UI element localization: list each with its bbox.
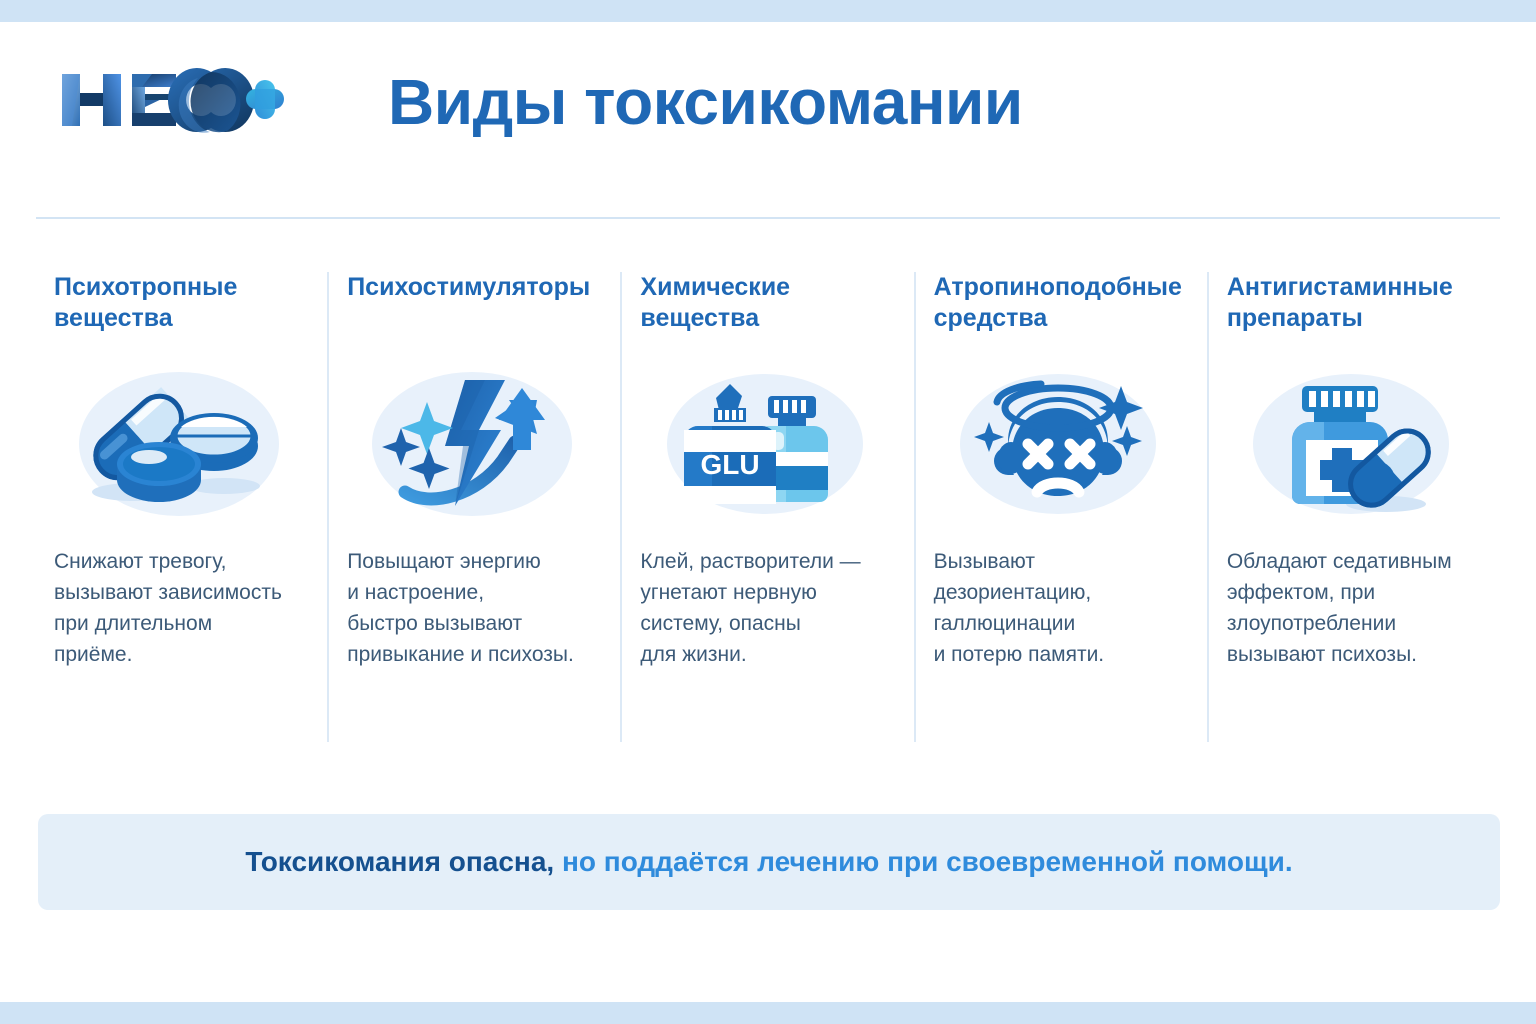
category-title: Химические вещества [640, 272, 889, 338]
category-title: Атропиноподобные средства [934, 272, 1183, 338]
category-description: Снижают тревогу, вызывают зависимость пр… [54, 546, 303, 670]
categories-row: Психотропные вещества [36, 272, 1500, 742]
category-column-stimulants: Психостимуляторы [327, 272, 620, 742]
category-description: Вызывают дезориентацию, галлюцинации и п… [934, 546, 1183, 670]
category-column-antihistamine: Антигистаминные препараты [1207, 272, 1500, 742]
category-column-psychotropic: Психотропные вещества [36, 272, 327, 742]
dizzy-face-icon [934, 364, 1183, 524]
category-description: Обладают седативным эффектом, при злоупо… [1227, 546, 1476, 670]
category-description: Повыщают энергию и настроение, быстро вы… [347, 546, 596, 670]
footer-message: Токсикомания опасна, но поддаётся лечени… [245, 846, 1292, 878]
footer-banner: Токсикомания опасна, но поддаётся лечени… [38, 814, 1500, 910]
neo-plus-logo [48, 64, 286, 136]
bottom-accent-band [0, 1002, 1536, 1024]
footer-message-light: но поддаётся лечению при своевременной п… [554, 846, 1292, 877]
page-title: Виды токсикомании [388, 70, 1023, 134]
header-divider [36, 217, 1500, 219]
category-description: Клей, растворители — угнетают нервную си… [640, 546, 889, 670]
footer-message-strong: Токсикомания опасна, [245, 846, 554, 877]
category-title: Антигистаминные препараты [1227, 272, 1476, 338]
glue-bottle-label: GLU [700, 449, 759, 480]
top-accent-band [0, 0, 1536, 22]
glue-solvent-bottles-icon: GLU [640, 364, 889, 524]
page-header: Виды токсикомании [0, 22, 1536, 196]
category-column-chemicals: Химические вещества [620, 272, 913, 742]
category-column-atropine: Атропиноподобные средства [914, 272, 1207, 742]
category-title: Психостимуляторы [347, 272, 596, 338]
category-title: Психотропные вещества [54, 272, 303, 338]
medicine-bottle-capsule-icon [1227, 364, 1476, 524]
lightning-bolt-sparkles-arrow-icon [347, 364, 596, 524]
pills-capsule-tablets-icon [54, 364, 303, 524]
